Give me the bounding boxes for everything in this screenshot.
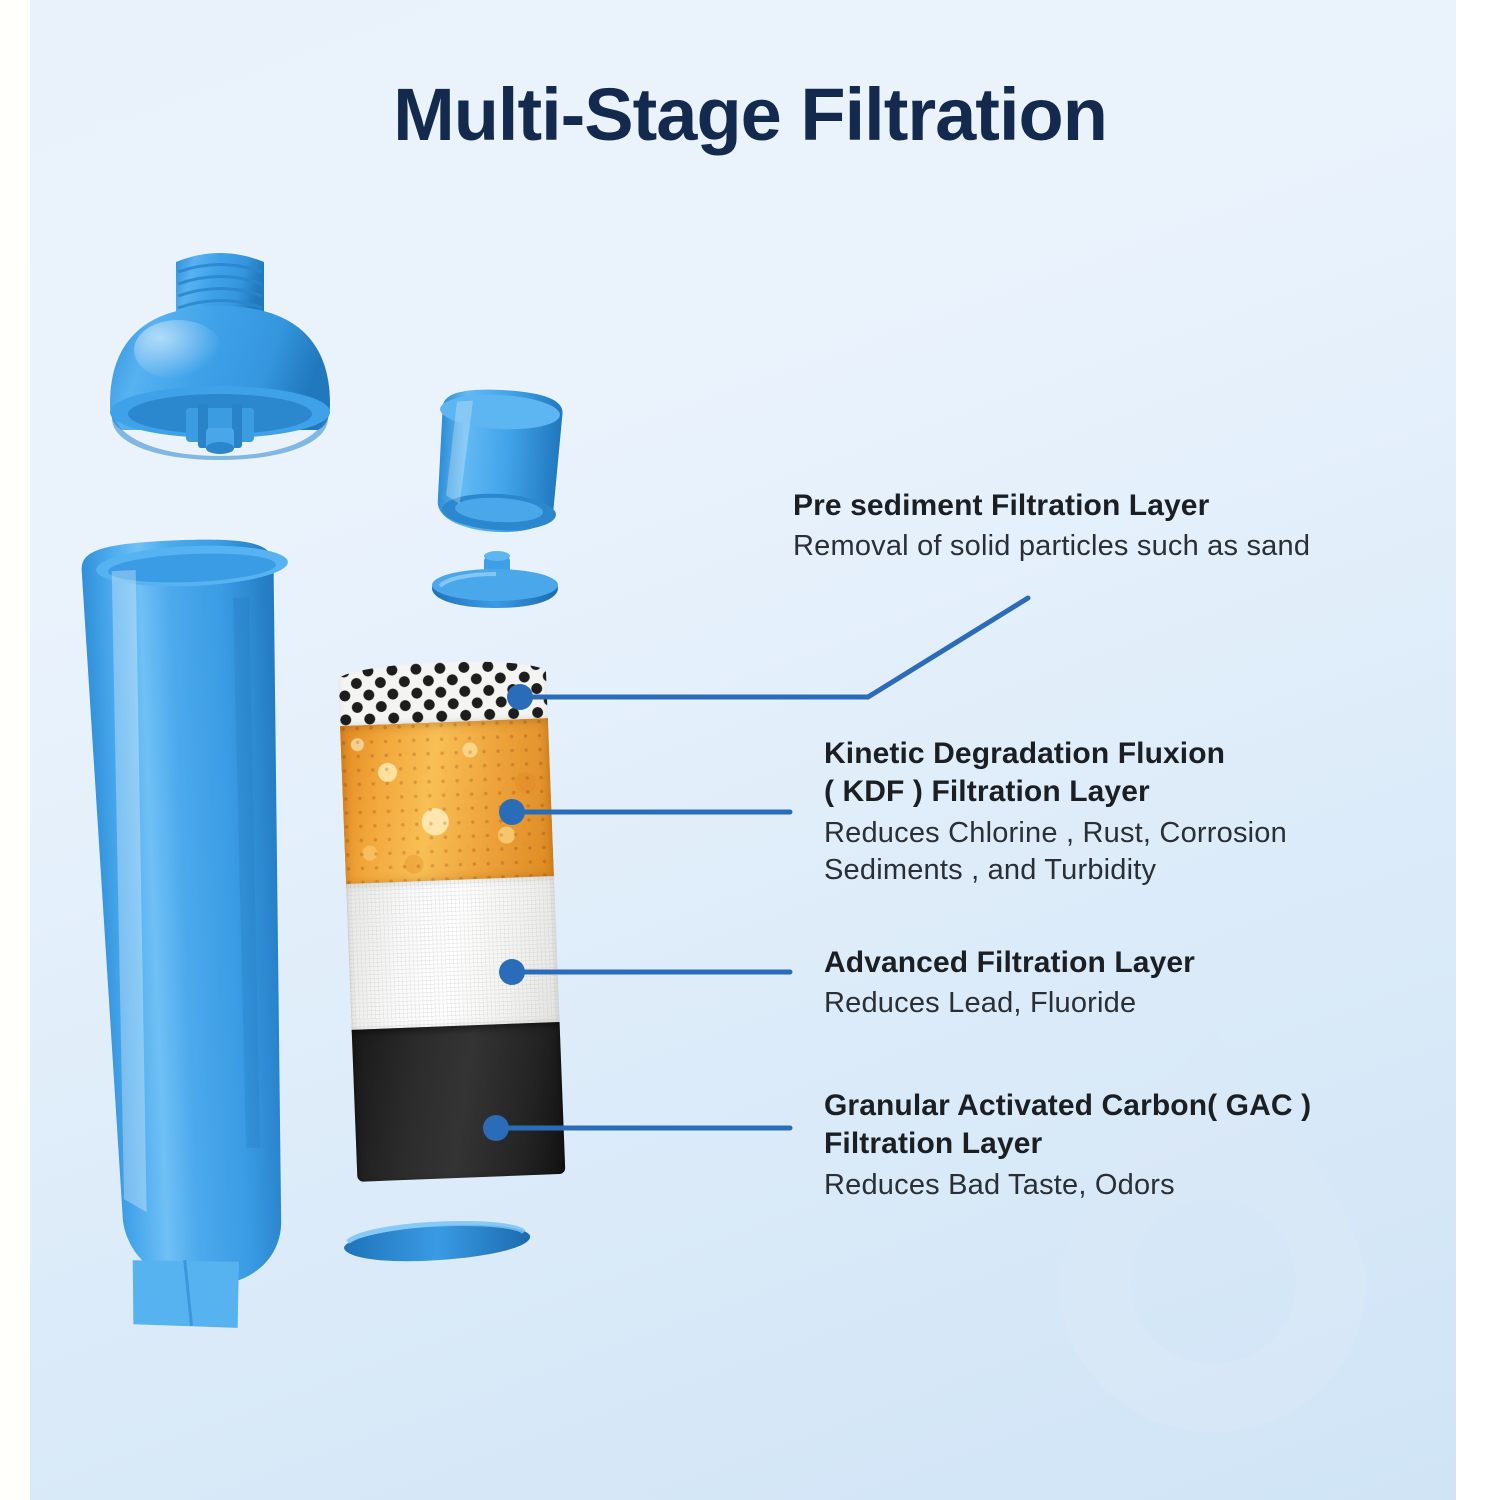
callout-advanced-heading: Advanced Filtration Layer (824, 944, 1195, 982)
leader-dot-sediment (507, 684, 533, 710)
callout-sediment-heading: Pre sediment Filtration Layer (793, 487, 1310, 525)
callout-gac: Granular Activated Carbon( GAC ) Filtrat… (824, 1087, 1311, 1204)
infographic-canvas: Multi-Stage Filtration (0, 0, 1500, 1500)
callout-gac-description: Reduces Bad Taste, Odors (824, 1167, 1311, 1205)
right-edge-strip (1456, 0, 1500, 1500)
callout-advanced-description: Reduces Lead, Fluoride (824, 985, 1195, 1023)
leader-line-sediment (520, 598, 1028, 697)
callout-sediment-description: Removal of solid particles such as sand (793, 528, 1310, 566)
callout-gac-heading: Granular Activated Carbon( GAC ) Filtrat… (824, 1087, 1311, 1164)
callout-kdf: Kinetic Degradation Fluxion ( KDF ) Filt… (824, 735, 1287, 890)
callout-kdf-heading: Kinetic Degradation Fluxion ( KDF ) Filt… (824, 735, 1287, 812)
leader-dot-advanced (499, 959, 525, 985)
leader-dot-kdf (499, 799, 525, 825)
callout-sediment: Pre sediment Filtration Layer Removal of… (793, 487, 1310, 566)
callout-kdf-description: Reduces Chlorine , Rust, Corrosion Sedim… (824, 815, 1287, 890)
callout-advanced: Advanced Filtration Layer Reduces Lead, … (824, 944, 1195, 1023)
leader-dot-gac (483, 1115, 509, 1141)
